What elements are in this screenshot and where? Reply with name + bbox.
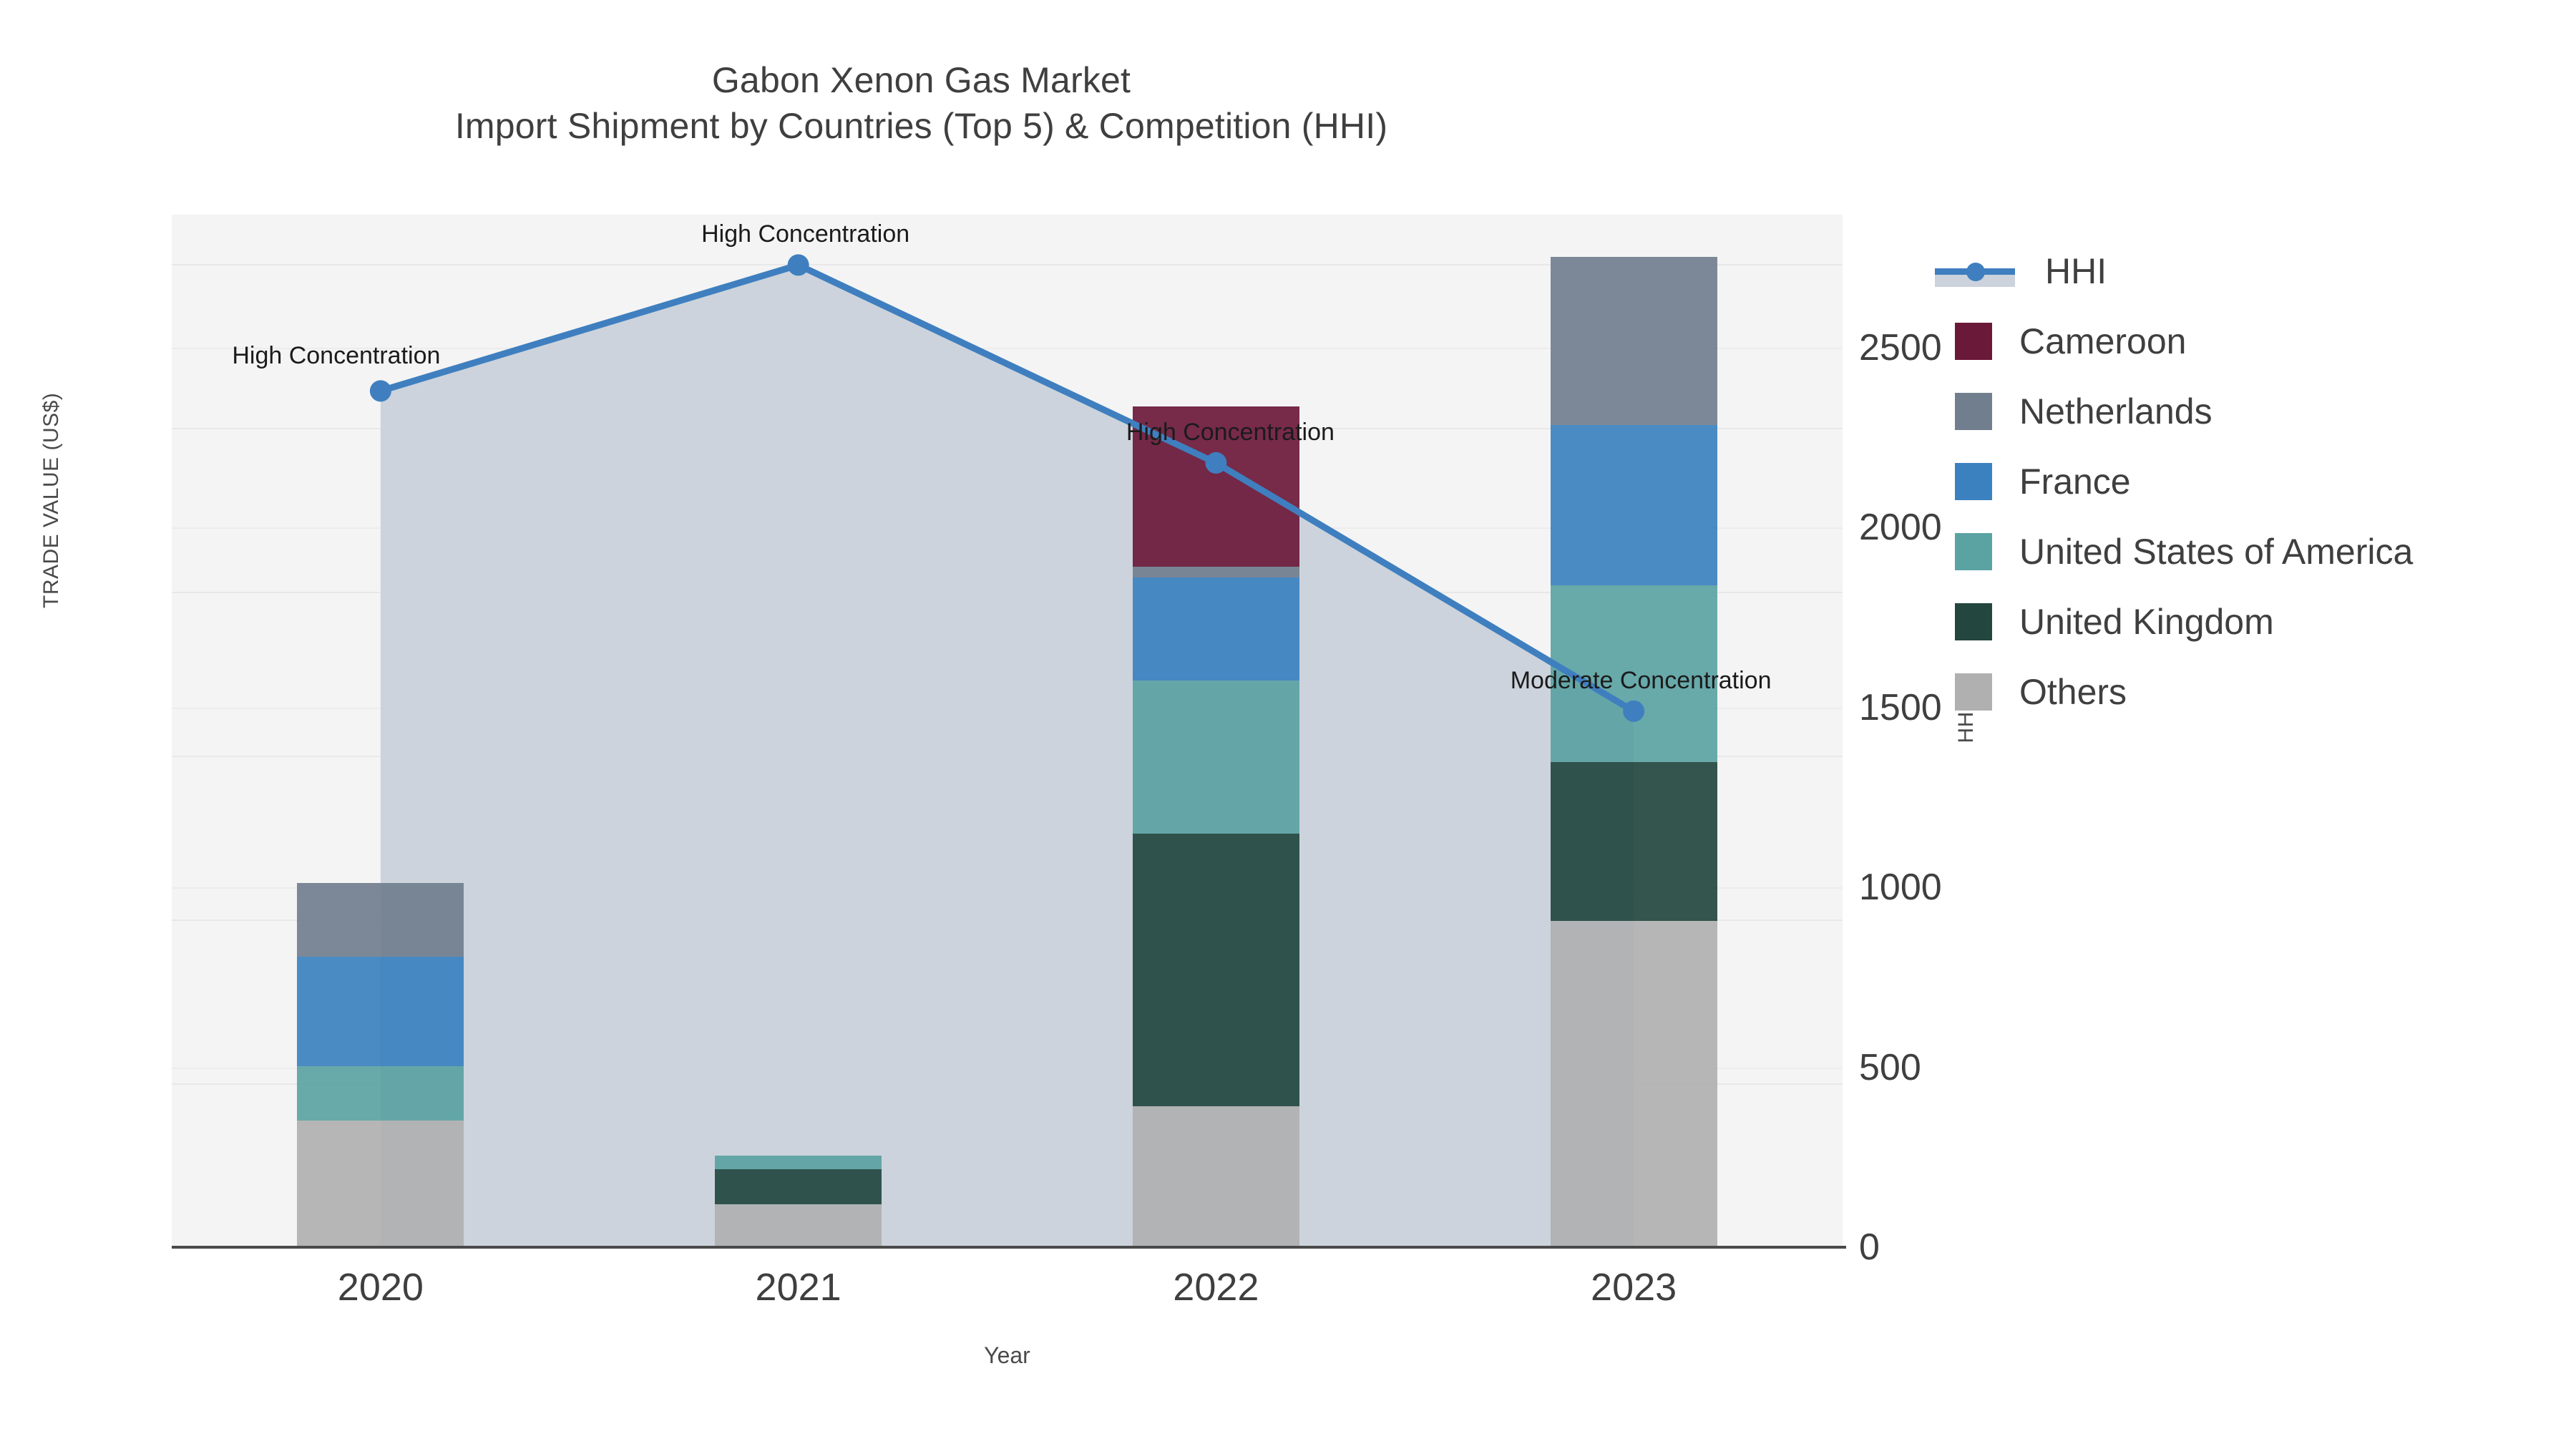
legend-item[interactable]: Netherlands [1932, 376, 2562, 447]
legend-item-label: Netherlands [2019, 391, 2212, 432]
hhi-annotation: High Concentration [232, 342, 440, 370]
y-axis-right-tick: 1000 [1859, 866, 1942, 909]
legend-item[interactable]: United Kingdom [1932, 587, 2562, 657]
legend-line-area-icon [1932, 253, 2018, 290]
legend-item-label: France [2019, 461, 2131, 502]
hhi-data-point[interactable] [370, 380, 391, 401]
bar-segment[interactable] [1133, 834, 1299, 1106]
x-axis-line [172, 1246, 1846, 1249]
hhi-annotation: High Concentration [1126, 419, 1335, 447]
bar-segment[interactable] [715, 1204, 882, 1247]
bar-segment[interactable] [1133, 680, 1299, 834]
legend-color-swatch [1955, 323, 1992, 360]
bar-segment[interactable] [715, 1169, 882, 1204]
bar-segment[interactable] [297, 1121, 464, 1247]
bar-segment[interactable] [715, 1156, 882, 1169]
legend-color-swatch [1955, 673, 1992, 711]
legend-item[interactable]: France [1932, 447, 2562, 517]
x-axis-tick: 2023 [1591, 1265, 1677, 1309]
x-axis-tick: 2022 [1173, 1265, 1259, 1309]
bar-segment[interactable] [297, 957, 464, 1066]
chart-title: Gabon Xenon Gas Market Import Shipment b… [0, 57, 1843, 149]
bar-segment[interactable] [1133, 1106, 1299, 1247]
y-axis-right-tick: 2500 [1859, 326, 1942, 369]
bar-segment[interactable] [1133, 577, 1299, 680]
bar-segment[interactable] [297, 1066, 464, 1121]
legend-item-label: United States of America [2019, 531, 2413, 572]
y-axis-right-tick: 500 [1859, 1046, 1921, 1089]
x-axis-tick: 2020 [338, 1265, 424, 1309]
legend-color-swatch [1955, 603, 1992, 640]
legend-item-label: HHI [2045, 250, 2107, 292]
plot-area: High ConcentrationHigh ConcentrationHigh… [172, 215, 1843, 1247]
y-axis-right-tick: 0 [1859, 1226, 1880, 1269]
legend-item[interactable]: HHI [1932, 236, 2562, 306]
legend-item[interactable]: Cameroon [1932, 306, 2562, 376]
legend-item[interactable]: Others [1932, 657, 2562, 727]
legend-dot-icon [1966, 263, 1985, 281]
y-axis-right-tick: 1500 [1859, 686, 1942, 729]
bar-segment[interactable] [1551, 762, 1717, 921]
legend-color-swatch [1955, 533, 1992, 570]
bar-segment[interactable] [1551, 257, 1717, 425]
bar-segment[interactable] [1133, 567, 1299, 577]
hhi-annotation: Moderate Concentration [1511, 667, 1772, 695]
legend-color-swatch [1955, 393, 1992, 430]
chart-subtitle-line-2: Import Shipment by Countries (Top 5) & C… [0, 103, 1843, 149]
bar-segment[interactable] [1551, 921, 1717, 1247]
y-axis-left-label: TRADE VALUE (US$) [39, 393, 64, 608]
legend-item-label: United Kingdom [2019, 601, 2274, 643]
bar-segment[interactable] [297, 883, 464, 957]
chart-root: Gabon Xenon Gas Market Import Shipment b… [0, 0, 2576, 1449]
y-axis-right-tick: 2000 [1859, 506, 1942, 549]
legend-color-swatch [1955, 463, 1992, 500]
legend: HHICameroonNetherlandsFranceUnited State… [1932, 236, 2562, 727]
legend-item-label: Cameroon [2019, 321, 2186, 362]
bar-segment[interactable] [1551, 425, 1717, 585]
chart-title-line-1: Gabon Xenon Gas Market [0, 57, 1843, 103]
hhi-line [381, 265, 1634, 711]
x-axis-tick: 2021 [756, 1265, 841, 1309]
legend-item[interactable]: United States of America [1932, 517, 2562, 587]
hhi-annotation: High Concentration [701, 220, 909, 248]
plot-inner: High ConcentrationHigh ConcentrationHigh… [172, 215, 1843, 1247]
x-axis-label: Year [172, 1342, 1843, 1369]
legend-item-label: Others [2019, 671, 2127, 713]
hhi-line-overlay [381, 265, 1634, 711]
